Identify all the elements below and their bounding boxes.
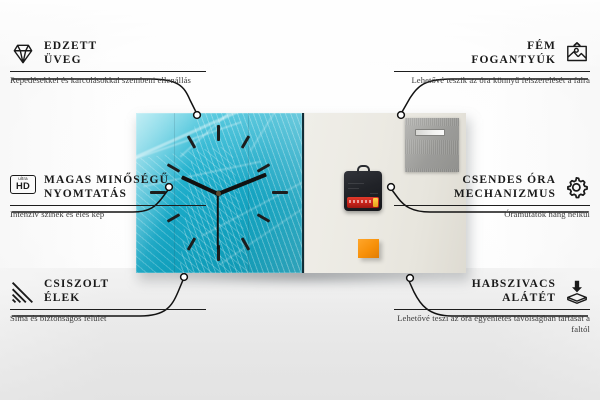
battery-terminal	[373, 198, 378, 207]
feature-title: EDZETTÜVEG	[44, 40, 97, 67]
feature-title: MAGAS MINŐSÉGŰNYOMTATÁS	[44, 174, 169, 201]
diamond-icon	[10, 41, 36, 67]
feature-polished-edges: CSISZOLTÉLEK Sima és biztonságos felület	[10, 278, 206, 324]
clock-tick-2	[257, 163, 271, 173]
feature-silent-mechanism: CSENDES ÓRAMECHANIZMUS Óramutatók hang n…	[394, 174, 590, 220]
clock-tick-1	[241, 135, 251, 149]
clock-mechanism	[344, 171, 382, 211]
metal-hanger-plate	[405, 118, 459, 172]
feature-header: HABSZIVACSALÁTÉT	[394, 278, 590, 305]
feature-header: EDZETTÜVEG	[10, 40, 206, 67]
feature-description: Repedésekkel és karcolásokkal szembeni e…	[10, 75, 206, 86]
feature-header: CSENDES ÓRAMECHANIZMUS	[394, 174, 590, 201]
feature-title: HABSZIVACSALÁTÉT	[472, 278, 556, 305]
feature-description: Sima és biztonságos felület	[10, 313, 206, 324]
infographic-canvas: EDZETTÜVEG Repedésekkel és karcolásokkal…	[0, 0, 600, 400]
clock-center-pin	[216, 191, 221, 196]
battery	[347, 197, 379, 208]
clock-tick-12	[217, 125, 220, 141]
clock-tick-5	[241, 237, 251, 251]
clock-tick-4	[257, 213, 271, 223]
feature-description: Óramutatók hang nélkül	[394, 209, 590, 220]
feature-description: Intenzív színek és éles kép	[10, 209, 206, 220]
feature-divider	[394, 205, 590, 206]
clock-tick-10	[167, 163, 181, 173]
feature-divider	[394, 71, 590, 72]
feature-title: CSISZOLTÉLEK	[44, 278, 109, 305]
feature-header: FÉMFOGANTYÚK	[394, 40, 590, 67]
clock-tick-11	[187, 135, 197, 149]
foam-spacer-pad	[358, 239, 379, 258]
feature-foam-underlay: HABSZIVACSALÁTÉT Lehetővé teszi az óra e…	[394, 278, 590, 335]
feature-title: CSENDES ÓRAMECHANIZMUS	[454, 174, 556, 201]
mechanism-detail	[348, 183, 364, 184]
polished-edges-icon	[10, 279, 36, 305]
feature-title: FÉMFOGANTYÚK	[471, 40, 556, 67]
mechanism-detail	[348, 188, 359, 189]
feature-metal-handles: FÉMFOGANTYÚK Lehetővé teszik az óra könn…	[394, 40, 590, 86]
hanger-slot	[415, 129, 445, 136]
feature-description: Lehetővé teszik az óra könnyű felszerelé…	[394, 75, 590, 86]
feature-tempered-glass: EDZETTÜVEG Repedésekkel és karcolásokkal…	[10, 40, 206, 86]
feature-header: ultra HD MAGAS MINŐSÉGŰNYOMTATÁS	[10, 174, 206, 201]
ultra-hd-icon: ultra HD	[10, 175, 36, 201]
feature-header: CSISZOLTÉLEK	[10, 278, 206, 305]
feature-divider	[394, 309, 590, 310]
mechanism-detail	[370, 193, 378, 194]
clock-tick-3	[272, 191, 288, 194]
feature-divider	[10, 71, 206, 72]
feature-description: Lehetővé teszi az óra egyenletes távolsá…	[394, 313, 590, 335]
foam-pad-icon	[564, 279, 590, 305]
feature-divider	[10, 309, 206, 310]
clock-hand-second	[217, 194, 219, 250]
feature-divider	[10, 205, 206, 206]
gear-icon	[564, 175, 590, 201]
feature-high-quality-print: ultra HD MAGAS MINŐSÉGŰNYOMTATÁS Intenzí…	[10, 174, 206, 220]
mechanism-hanger-loop	[357, 165, 370, 174]
clock-tick-7	[187, 237, 197, 251]
clock-hand-minute	[217, 173, 267, 196]
picture-hanger-icon	[564, 41, 590, 67]
